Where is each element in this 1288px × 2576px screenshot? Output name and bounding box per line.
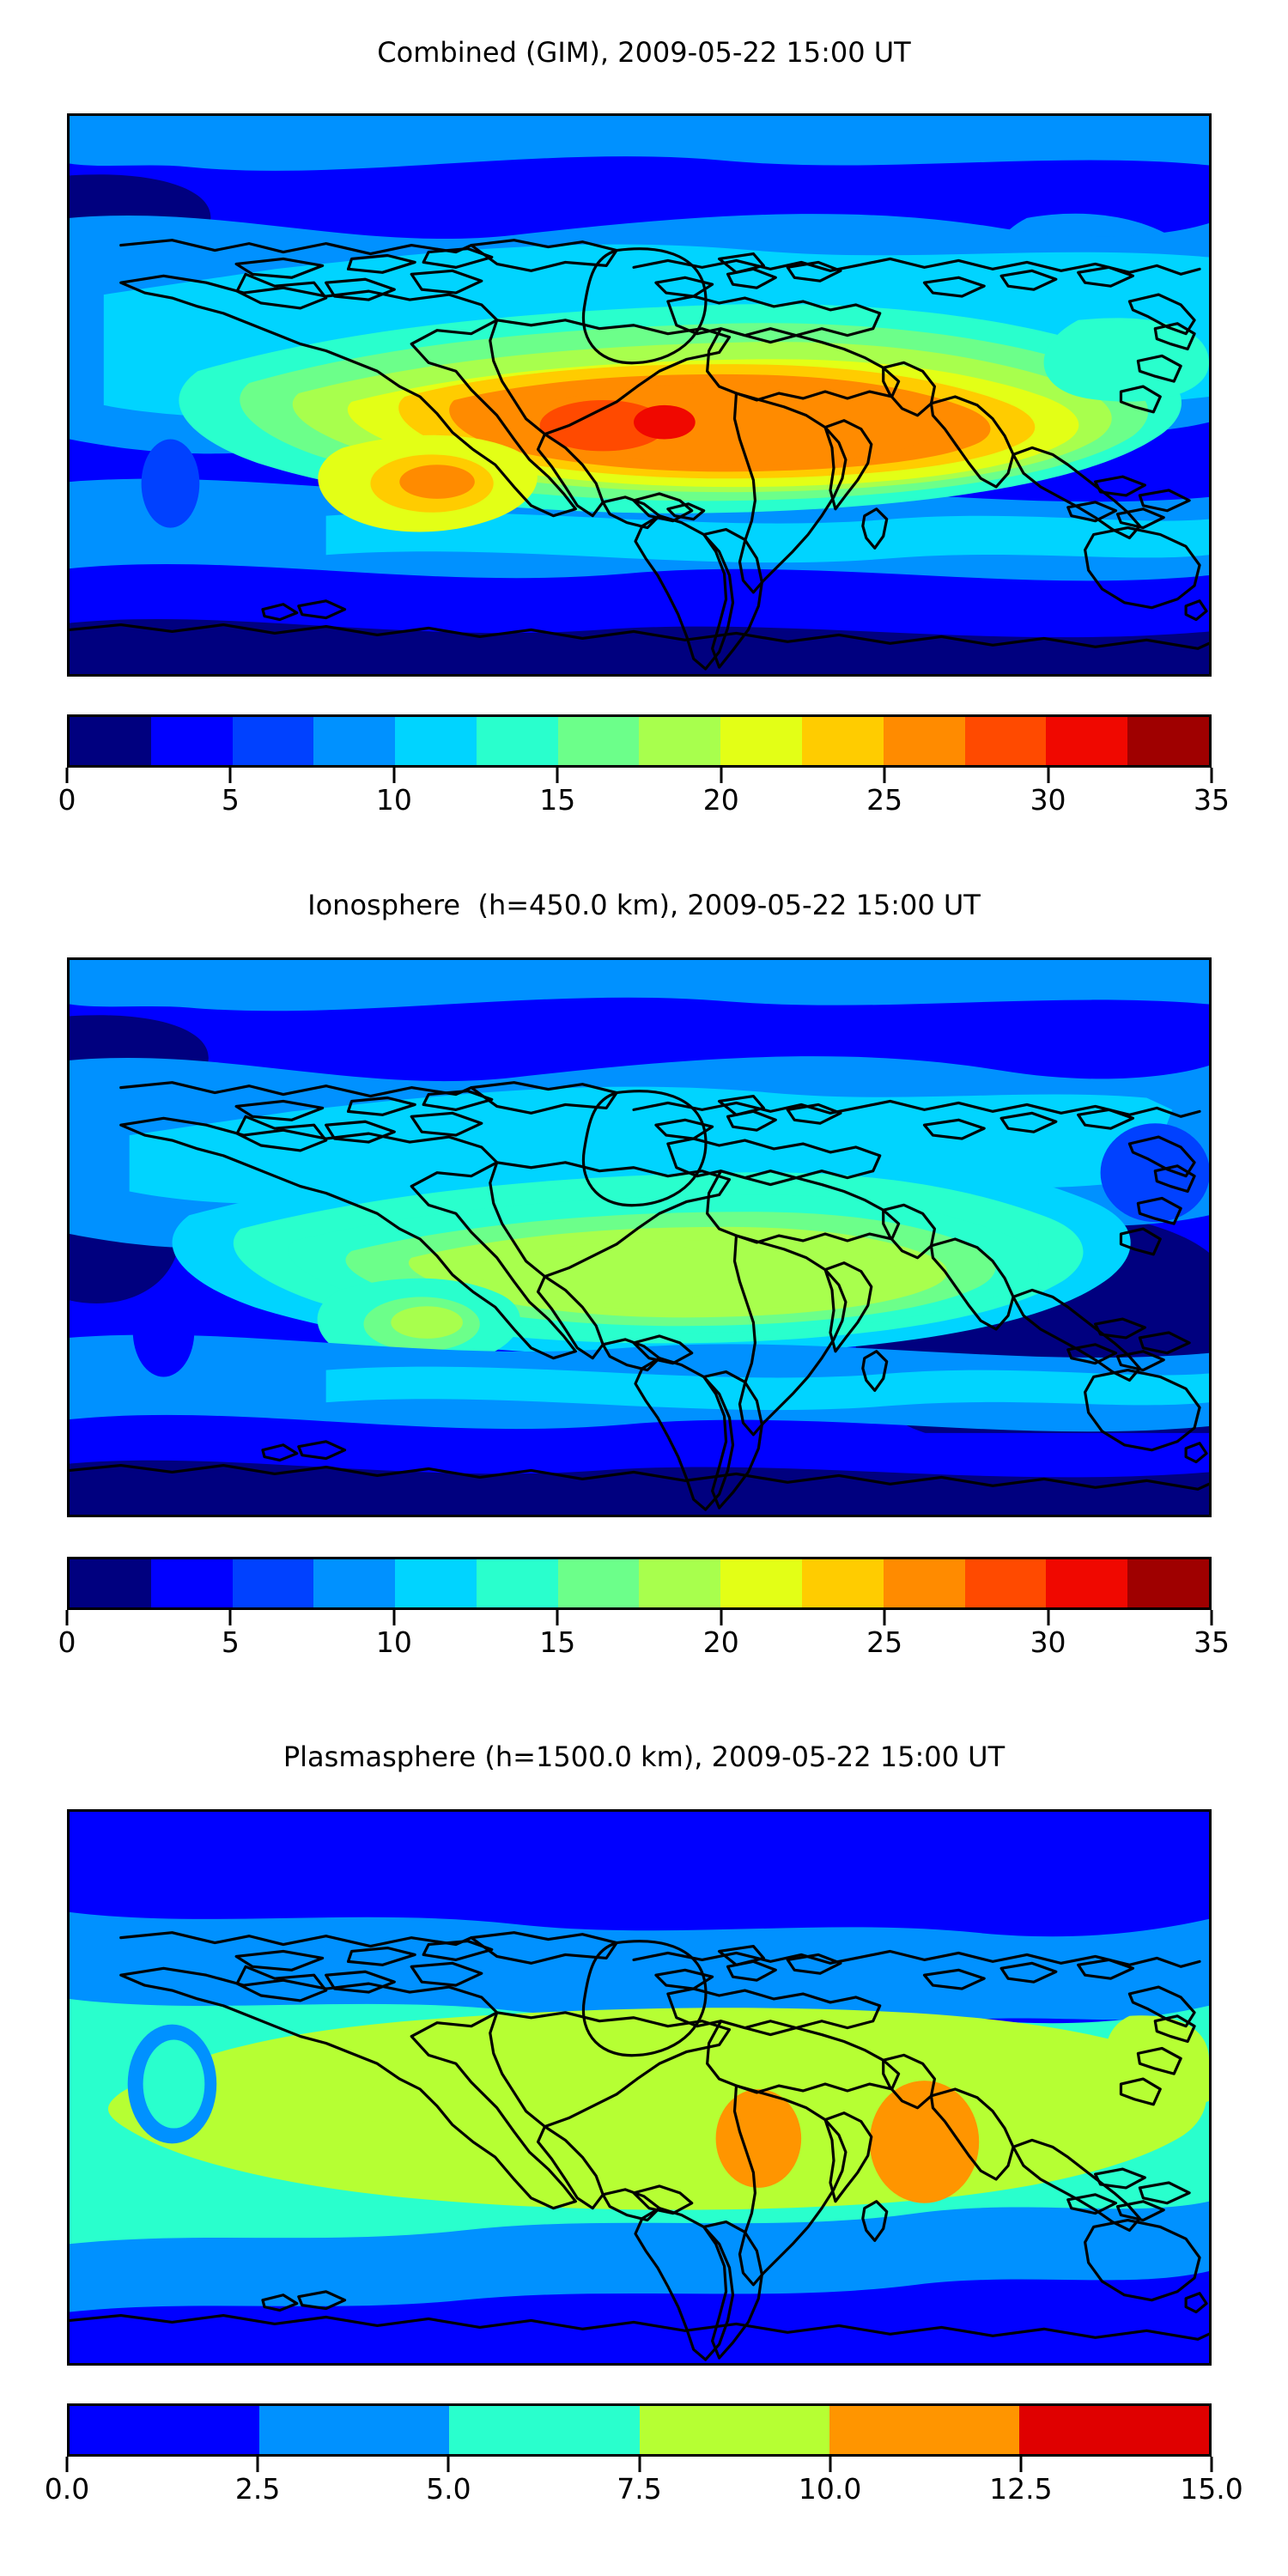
colorbar-segment [151,1559,233,1607]
colorbar-segment [965,1559,1047,1607]
colorbar-tick [1047,1610,1049,1625]
colorbar-gradient-ionosphere [67,1557,1212,1610]
colorbar-segment [884,1559,965,1607]
panel-title-ionosphere: Ionosphere (h=450.0 km), 2009-05-22 15:0… [0,889,1288,921]
colorbar-tick [257,2457,259,2472]
colorbar-tick-label: 0 [58,783,76,817]
colorbar-tick-label: 0.0 [45,2472,89,2506]
colorbar-segment [639,717,720,765]
colorbar-tick [638,2457,641,2472]
colorbar-tick [829,2457,831,2472]
colorbar-tick [229,768,232,783]
figure-canvas: Combined (GIM), 2009-05-22 15:00 UT [0,0,1288,2576]
colorbar-tick [66,1610,69,1625]
colorbar-gradient-plasmasphere [67,2403,1212,2457]
colorbar-tick [884,768,886,783]
colorbar-tick [392,768,395,783]
colorbar-gradient-combined-gim [67,714,1212,768]
colorbar-segment [477,1559,558,1607]
colorbar-tick-label: 15 [539,1625,575,1659]
colorbar-tick [556,768,559,783]
panel-combined-gim: Combined (GIM), 2009-05-22 15:00 UT [0,0,1288,867]
colorbar-tick-label: 20 [703,1625,739,1659]
colorbar-tick-label: 35 [1194,1625,1230,1659]
colorbar-tick-label: 20 [703,783,739,817]
colorbar-tick-label: 5 [222,1625,240,1659]
colorbar-tick [66,768,69,783]
map-axes-plasmasphere [67,1809,1212,2366]
colorbar-segment [829,2406,1019,2454]
colorbar-tick [1019,2457,1022,2472]
colorbar-segment [558,717,640,765]
colorbar-tick-label: 10 [376,783,412,817]
colorbar-tick-label: 5.0 [426,2472,471,2506]
colorbar-segment [1019,2406,1209,2454]
colorbar-tick-label: 35 [1194,783,1230,817]
colorbar-tick [447,2457,450,2472]
colorbar-segment [395,1559,477,1607]
panel-title-combined-gim: Combined (GIM), 2009-05-22 15:00 UT [0,36,1288,69]
panel-ionosphere: Ionosphere (h=450.0 km), 2009-05-22 15:0… [0,854,1288,1713]
colorbar-tick-labels-ionosphere: 05101520253035 [67,1625,1212,1663]
colorbar-plasmasphere: 0.02.55.07.510.012.515.0 [67,2403,1212,2510]
colorbar-tick-label: 10.0 [799,2472,861,2506]
colorbar-tick-label: 15.0 [1180,2472,1242,2506]
colorbar-segment [639,1559,720,1607]
colorbar-segment [1046,717,1127,765]
colorbar-tick-label: 7.5 [617,2472,661,2506]
colorbar-segment [233,1559,314,1607]
colorbar-segment [449,2406,639,2454]
colorbar-tick-label: 2.5 [235,2472,280,2506]
colorbar-segment [233,717,314,765]
colorbar-tick-labels-plasmasphere: 0.02.55.07.510.012.515.0 [67,2472,1212,2510]
colorbar-combined-gim: 05101520253035 [67,714,1212,821]
colorbar-ticks-ionosphere [67,1610,1212,1625]
panel-title-plasmasphere: Plasmasphere (h=1500.0 km), 2009-05-22 1… [0,1741,1288,1773]
colorbar-segment [313,717,395,765]
colorbar-tick-label: 25 [866,1625,902,1659]
colorbar-segment [720,717,802,765]
colorbar-tick [1211,1610,1213,1625]
coastline-overlay-ionosphere [70,960,1209,1515]
colorbar-segment [259,2406,449,2454]
colorbar-tick-labels-combined-gim: 05101520253035 [67,783,1212,821]
colorbar-tick-label: 12.5 [989,2472,1052,2506]
colorbar-segment [1127,717,1209,765]
colorbar-tick-label: 5 [222,783,240,817]
coastline-overlay-plasmasphere [70,1812,1209,2363]
colorbar-tick [720,768,722,783]
colorbar-ticks-combined-gim [67,768,1212,783]
colorbar-tick-label: 10 [376,1625,412,1659]
colorbar-segment [477,717,558,765]
colorbar-segment [70,717,151,765]
colorbar-segment [313,1559,395,1607]
colorbar-tick [720,1610,722,1625]
colorbar-tick [884,1610,886,1625]
colorbar-tick [1047,768,1049,783]
map-axes-combined-gim [67,113,1212,677]
colorbar-segment [70,1559,151,1607]
colorbar-segment [1046,1559,1127,1607]
colorbar-ionosphere: 05101520253035 [67,1557,1212,1663]
map-axes-ionosphere [67,957,1212,1517]
colorbar-segment [558,1559,640,1607]
colorbar-segment [720,1559,802,1607]
colorbar-segment [640,2406,829,2454]
colorbar-segment [70,2406,259,2454]
colorbar-tick [229,1610,232,1625]
colorbar-tick-label: 0 [58,1625,76,1659]
colorbar-tick-label: 30 [1030,783,1066,817]
colorbar-segment [1127,1559,1209,1607]
colorbar-tick [392,1610,395,1625]
colorbar-segment [395,717,477,765]
colorbar-segment [965,717,1047,765]
colorbar-segment [802,1559,884,1607]
colorbar-tick-label: 15 [539,783,575,817]
colorbar-ticks-plasmasphere [67,2457,1212,2472]
colorbar-tick-label: 30 [1030,1625,1066,1659]
colorbar-tick [1211,2457,1213,2472]
colorbar-tick [66,2457,69,2472]
colorbar-segment [802,717,884,765]
coastline-overlay-combined-gim [70,116,1209,674]
colorbar-tick-label: 25 [866,783,902,817]
colorbar-segment [151,717,233,765]
colorbar-tick [1211,768,1213,783]
colorbar-tick [556,1610,559,1625]
panel-plasmasphere: Plasmasphere (h=1500.0 km), 2009-05-22 1… [0,1704,1288,2576]
colorbar-segment [884,717,965,765]
